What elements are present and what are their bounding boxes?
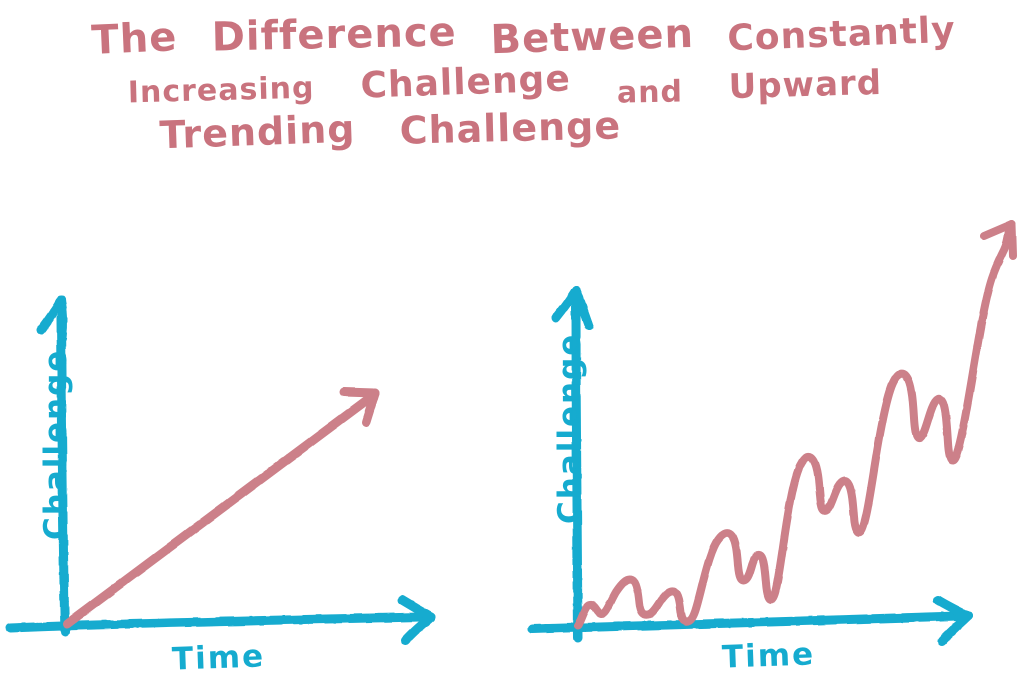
left-chart-trend-line bbox=[67, 392, 375, 624]
left-chart-y-axis bbox=[41, 300, 65, 632]
left-chart bbox=[10, 300, 431, 640]
right-chart-trend-line bbox=[578, 224, 1013, 626]
right-chart bbox=[532, 224, 1013, 641]
sketch-canvas bbox=[0, 0, 1024, 695]
right-chart-y-axis bbox=[556, 290, 589, 638]
